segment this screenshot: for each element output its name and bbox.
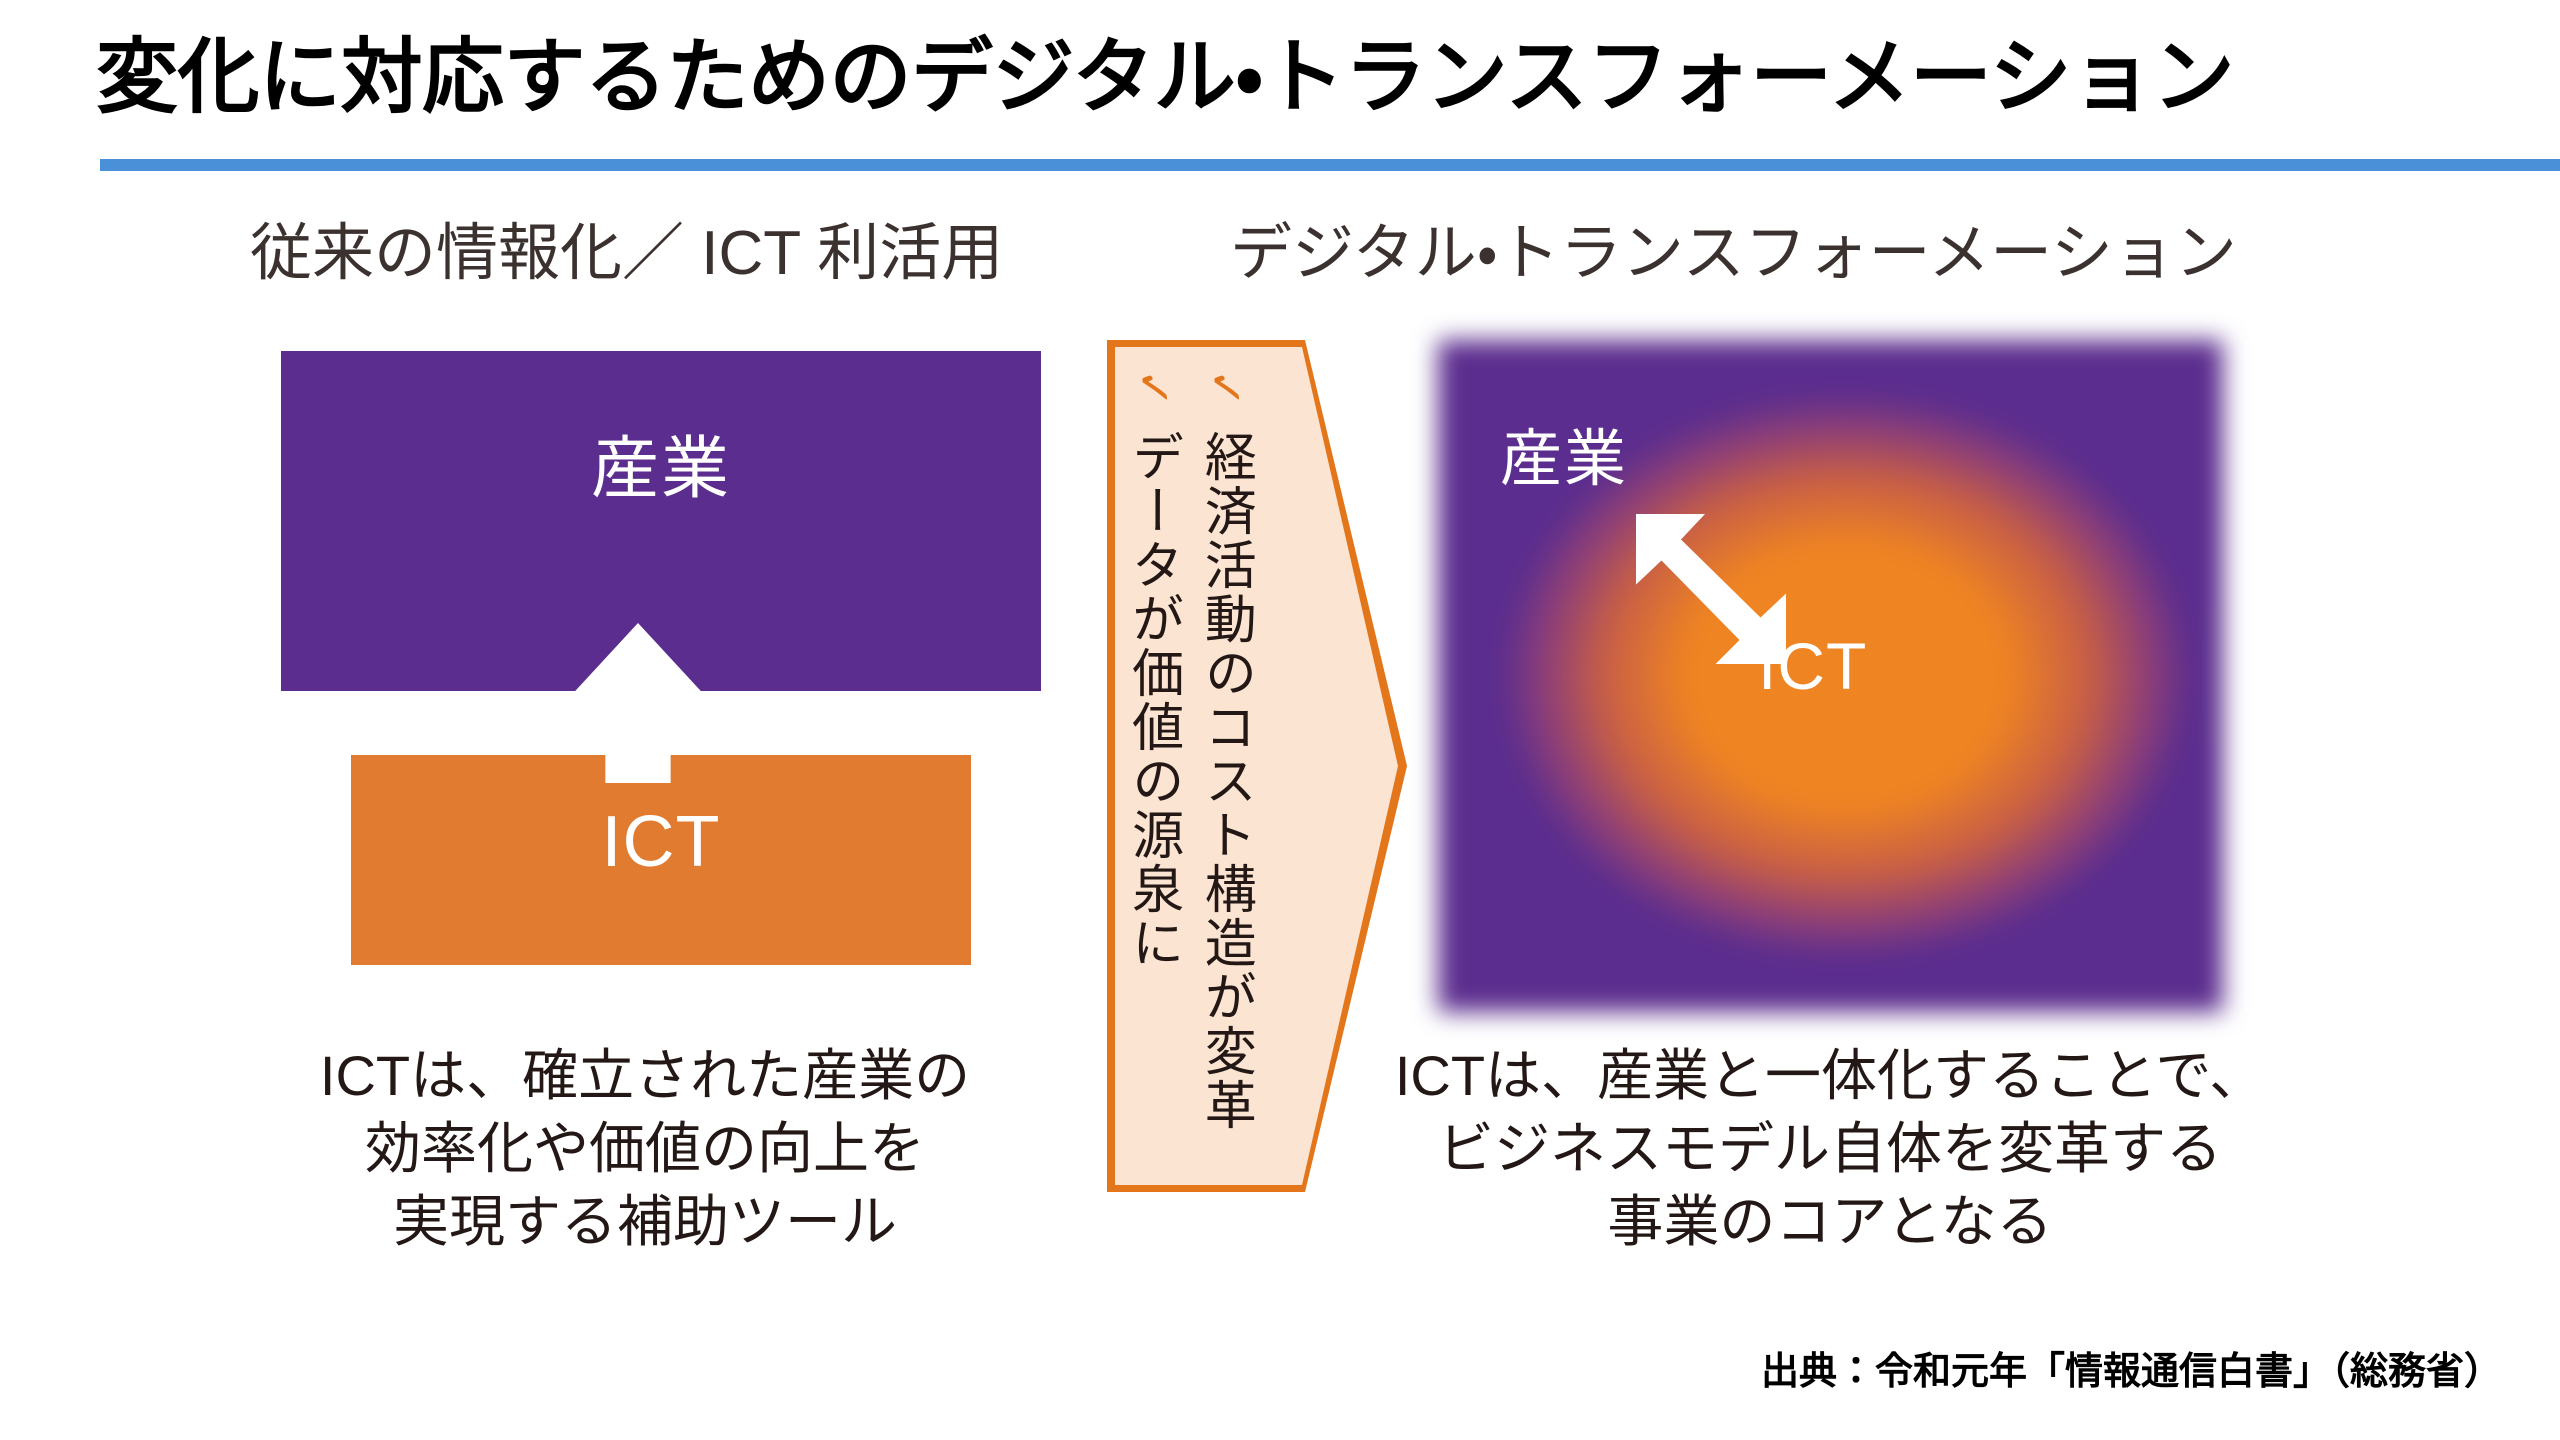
callout-vertical-line-1-text: 経済活動のコスト構造が変革 <box>1196 430 1254 1132</box>
right-caption-line-1: ICTは、産業と一体化することで、 <box>1360 1040 2300 1113</box>
callout-vertical-line-2: ✓データが価値の源泉に <box>1125 360 1180 970</box>
left-ict-label: ICT <box>351 801 971 883</box>
left-caption: ICTは、確立された産業の 効率化や価値の向上を 実現する補助ツール <box>240 1040 1050 1258</box>
check-icon-1: ✓ <box>1197 365 1253 411</box>
left-caption-line-2: 効率化や価値の向上を <box>240 1113 1050 1186</box>
callout-vertical-line-2-text: データが価値の源泉に <box>1124 430 1182 970</box>
right-ict-label: ICT <box>1758 628 1867 704</box>
page-title: 変化に対応するためのデジタル・トランスフォーメーション <box>96 34 2234 123</box>
title-underline-rule <box>100 159 2560 171</box>
check-icon-2: ✓ <box>1125 365 1181 411</box>
left-caption-line-1: ICTは、確立された産業の <box>240 1040 1050 1113</box>
source-credit: 出典：令和元年「情報通信白書」（総務省） <box>1761 1340 2502 1395</box>
left-industry-box: 産業 <box>281 351 1041 691</box>
right-caption: ICTは、産業と一体化することで、 ビジネスモデル自体を変革する 事業のコアとな… <box>1360 1040 2300 1258</box>
left-column-heading: 従来の情報化／ ICT 利活用 <box>250 202 1003 292</box>
slide-canvas: 変化に対応するためのデジタル・トランスフォーメーション 従来の情報化／ ICT … <box>0 0 2560 1440</box>
right-caption-line-3: 事業のコアとなる <box>1360 1186 2300 1259</box>
callout-vertical-text-group: ✓経済活動のコスト構造が変革 ✓データが価値の源泉に <box>1125 360 1252 1172</box>
right-industry-label: 産業 <box>1500 408 1628 498</box>
left-ict-box: ICT <box>351 755 971 965</box>
left-caption-line-3: 実現する補助ツール <box>240 1186 1050 1259</box>
right-gradient-label-layer: 産業 ICT <box>1438 340 2223 1012</box>
right-caption-line-2: ビジネスモデル自体を変革する <box>1360 1113 2300 1186</box>
callout-vertical-line-1: ✓経済活動のコスト構造が変革 <box>1198 360 1253 1132</box>
right-column-heading: デジタル・トランスフォーメーション <box>1230 202 2237 292</box>
left-industry-label: 産業 <box>281 413 1041 512</box>
callout-left-edge <box>1107 340 1115 1192</box>
